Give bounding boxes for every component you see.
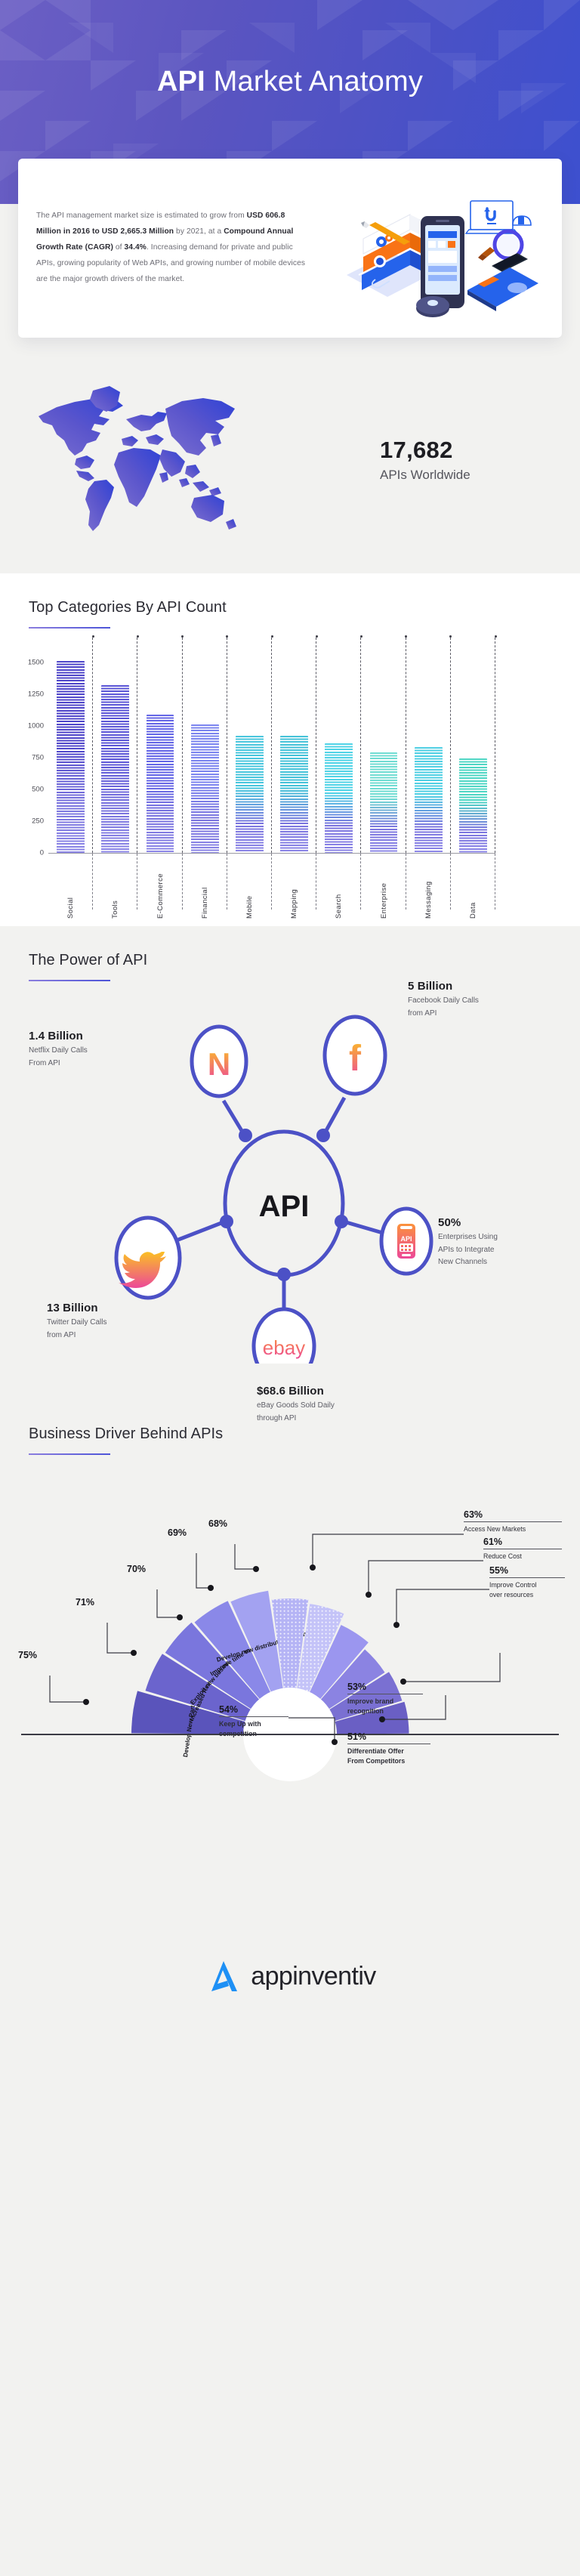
chart-bar — [370, 752, 398, 853]
top-categories-title: Top Categories By API Count — [29, 599, 551, 616]
driver-71-value: 71% — [76, 1597, 94, 1608]
chart-gridline-dot — [226, 635, 228, 638]
api-count-value: 17,682 — [380, 437, 549, 463]
chart-plot-area: 0250500750100012501500 — [48, 650, 495, 854]
chart-y-tick: 1000 — [15, 721, 44, 730]
power-of-api-header: The Power of API — [0, 926, 580, 981]
svg-text:ebay: ebay — [263, 1336, 305, 1359]
driver-51-value: 51% — [347, 1731, 430, 1742]
driver-61-rule — [483, 1549, 562, 1549]
chart-gridline-dot — [360, 635, 362, 638]
driver-55-value: 55% — [489, 1565, 565, 1576]
chart-category-label: Enterprise — [361, 854, 406, 919]
driver-51-label: Differentiate Offer From Competitors — [347, 1747, 430, 1766]
page-title-accent: API — [157, 66, 205, 97]
driver-55-rule — [489, 1577, 565, 1578]
chart-bar — [147, 715, 174, 853]
svg-text:f: f — [349, 1039, 362, 1079]
twitter-stat-label: Twitter Daily Calls from API — [47, 1317, 190, 1342]
chart-category-label: E-Commerce — [137, 854, 182, 919]
footer: appinventiv — [0, 1908, 580, 2044]
svg-text:N: N — [208, 1046, 230, 1082]
business-drivers-title: Business Driver Behind APIs — [29, 1425, 551, 1443]
chart-gridline-dot — [271, 635, 273, 638]
chart-gridline-dot — [449, 635, 452, 638]
driver-63-rule — [464, 1521, 562, 1522]
footer-brand-name: appinventiv — [251, 1962, 375, 1991]
driver-63-value: 63% — [464, 1509, 562, 1520]
driver-63-note: 63% Access New Markets — [464, 1509, 562, 1534]
chart-category-label: Messaging — [406, 854, 451, 919]
top-categories-header: Top Categories By API Count — [0, 573, 580, 629]
ebay-stat: $68.6 Billion eBay Goods Sold Daily thro… — [257, 1385, 423, 1425]
chart-category-label: Financial — [183, 854, 227, 919]
intro-illustration — [313, 178, 545, 318]
business-drivers-fan-chart: Develop New Partnership — 75%Develop New… — [0, 1455, 580, 1908]
driver-61-label: Reduce Cost — [483, 1552, 562, 1561]
driver-53-value: 53% — [347, 1682, 423, 1692]
netflix-stat: 1.4 Billion Netflix Daily Calls From API — [29, 1030, 157, 1070]
driver-54-label: Keep Up with competition — [219, 1719, 288, 1739]
driver-54-note: 54% Keep Up with competition — [219, 1704, 288, 1739]
chart-category-label: Social — [48, 854, 93, 919]
chart-column — [227, 650, 272, 853]
chart-bar — [459, 758, 487, 853]
chart-category-label: Data — [451, 854, 495, 919]
chart-bar — [191, 724, 219, 853]
driver-68-value: 68% — [208, 1518, 227, 1529]
netflix-stat-value: 1.4 Billion — [29, 1030, 157, 1042]
intro-text-part-1: The API management market size is estima… — [36, 212, 247, 220]
driver-70-value: 70% — [127, 1564, 146, 1574]
chart-category-label: Search — [316, 854, 361, 919]
driver-71-note: 71% — [76, 1597, 94, 1608]
chart-category-label: Tools — [93, 854, 137, 919]
infographic-page: API Market Anatomy The API management ma… — [0, 0, 580, 2044]
chart-y-tick: 0 — [15, 849, 44, 857]
top-categories-section: Top Categories By API Count 025050075010… — [0, 573, 580, 926]
world-map-icon — [31, 377, 363, 539]
chart-y-tick: 1500 — [15, 658, 44, 666]
world-map-section: 17,682 APIs Worldwide — [0, 357, 580, 573]
facebook-stat-value: 5 Billion — [408, 980, 559, 993]
chart-y-tick: 750 — [15, 753, 44, 761]
intro-text-bold-3: 34.4% — [125, 243, 147, 252]
driver-61-note: 61% Reduce Cost — [483, 1537, 562, 1561]
driver-70-note: 70% — [127, 1564, 146, 1574]
enterprise-stat-label: Enterprises Using APIs to Integrate New … — [438, 1231, 574, 1269]
driver-55-label: Improve Control over resources — [489, 1580, 565, 1600]
chart-y-tick: 500 — [15, 785, 44, 793]
world-map — [31, 377, 371, 543]
chart-y-tick: 1250 — [15, 690, 44, 698]
chart-bar — [57, 661, 85, 853]
twitter-stat: 13 Billion Twitter Daily Calls from API — [47, 1302, 190, 1342]
api-devices-isometric-illustration — [319, 178, 538, 318]
power-of-api-title: The Power of API — [29, 952, 551, 969]
chart-columns — [48, 650, 495, 853]
twitter-stat-value: 13 Billion — [47, 1302, 190, 1314]
worldwide-api-stat: 17,682 APIs Worldwide — [375, 437, 549, 482]
chart-gridline-dot — [405, 635, 407, 638]
netflix-stat-label: Netflix Daily Calls From API — [29, 1045, 157, 1070]
driver-51-rule — [347, 1744, 430, 1744]
power-of-api-section: The Power of API — [0, 926, 580, 1908]
chart-column — [316, 650, 361, 853]
driver-69-note: 69% — [168, 1527, 187, 1538]
chart-bar — [415, 747, 443, 853]
page-title: API Market Anatomy — [0, 66, 580, 98]
ebay-stat-label: eBay Goods Sold Daily through API — [257, 1400, 423, 1425]
facebook-stat-label: Facebook Daily Calls from API — [408, 995, 559, 1020]
driver-53-note: 53% Improve brand recognition — [347, 1682, 423, 1716]
page-title-rest: Market Anatomy — [205, 66, 423, 97]
chart-column — [183, 650, 227, 853]
driver-54-value: 54% — [219, 1704, 288, 1715]
api-count-caption: APIs Worldwide — [380, 468, 549, 483]
chart-bar — [280, 736, 308, 853]
chart-column — [361, 650, 406, 853]
svg-text:API: API — [259, 1190, 310, 1223]
enterprise-stat: 50% Enterprises Using APIs to Integrate … — [438, 1216, 574, 1269]
chart-x-axis-labels: SocialToolsE-CommerceFinancialMobileMapp… — [48, 854, 495, 919]
chart-gridline-dot — [137, 635, 139, 638]
chart-gridline-dot — [495, 635, 497, 638]
chart-column — [93, 650, 137, 853]
enterprise-stat-value: 50% — [438, 1216, 574, 1229]
intro-paragraph: The API management market size is estima… — [36, 208, 309, 288]
driver-63-label: Access New Markets — [464, 1524, 562, 1534]
driver-69-value: 69% — [168, 1527, 187, 1538]
chart-column — [137, 650, 182, 853]
intro-text-part-2: by 2021, at a — [174, 227, 224, 236]
driver-61-value: 61% — [483, 1537, 562, 1547]
driver-53-rule — [347, 1694, 423, 1694]
chart-gridline-dot — [181, 635, 184, 638]
chart-column — [48, 650, 93, 853]
svg-text:API: API — [400, 1235, 412, 1243]
ebay-stat-value: $68.6 Billion — [257, 1385, 423, 1398]
driver-68-note: 68% — [208, 1518, 227, 1529]
driver-54-rule — [219, 1716, 288, 1717]
driver-75-note: 75% — [18, 1650, 37, 1660]
appinventiv-logo-icon — [204, 1957, 243, 1996]
api-hub-diagram: API N f API — [0, 986, 580, 1364]
chart-column — [406, 650, 451, 853]
chart-category-label: Mobile — [227, 854, 272, 919]
title-underline — [29, 980, 110, 981]
intro-card-wrap: The API management market size is estima… — [0, 159, 580, 357]
chart-gridline-dot — [316, 635, 318, 638]
facebook-stat: 5 Billion Facebook Daily Calls from API — [408, 980, 559, 1020]
driver-75-value: 75% — [18, 1650, 37, 1660]
chart-gridline-dot — [92, 635, 94, 638]
driver-51-note: 51% Differentiate Offer From Competitors — [347, 1731, 430, 1766]
chart-y-tick: 250 — [15, 817, 44, 825]
chart-category-label: Mapping — [272, 854, 316, 919]
chart-column — [451, 650, 495, 853]
chart-bar — [325, 743, 353, 853]
intro-card: The API management market size is estima… — [18, 159, 562, 338]
chart-bar — [236, 736, 264, 853]
intro-text-part-3: of — [113, 243, 125, 252]
driver-55-note: 55% Improve Control over resources — [489, 1565, 565, 1600]
chart-bar — [101, 685, 129, 853]
driver-53-label: Improve brand recognition — [347, 1697, 423, 1716]
chart-column — [272, 650, 316, 853]
api-count-bar-chart: 0250500750100012501500 SocialToolsE-Comm… — [0, 629, 580, 926]
